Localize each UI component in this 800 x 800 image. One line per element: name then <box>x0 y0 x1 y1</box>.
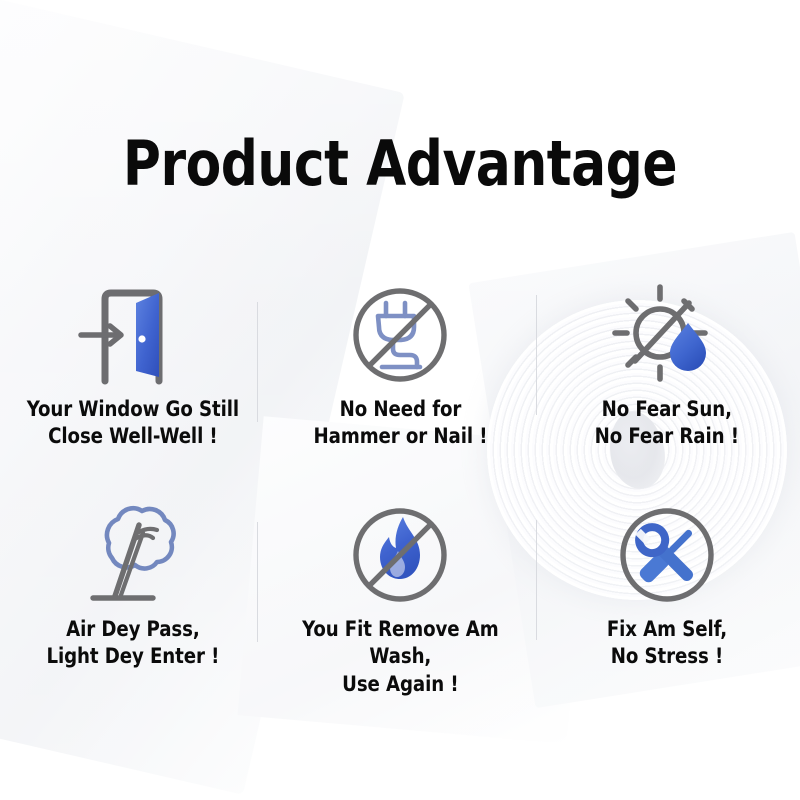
feature-caption: No Fear Sun, No Fear Rain ! <box>595 396 739 451</box>
page-title: Product Advantage <box>28 133 772 195</box>
feature-caption: No Need for Hammer or Nail ! <box>313 396 487 451</box>
no-flame-icon <box>348 496 452 614</box>
no-drill-tool-icon <box>348 276 452 394</box>
product-advantage-poster: Product Advantage <box>0 0 800 800</box>
feature-item-window-closes-well: Your Window Go Still Close Well-Well ! <box>0 276 267 496</box>
feature-grid: Your Window Go Still Close Well-Well ! <box>0 276 800 716</box>
feature-caption: Your Window Go Still Close Well-Well ! <box>27 396 239 451</box>
feature-item-easy-self-install: Fix Am Self, No Stress ! <box>533 496 800 716</box>
feature-item-air-and-light-pass: Air Dey Pass, Light Dey Enter ! <box>0 496 267 716</box>
feature-item-sun-and-rain-proof: No Fear Sun, No Fear Rain ! <box>533 276 800 496</box>
open-door-with-arrow-icon <box>79 276 187 394</box>
feature-caption: You Fit Remove Am Wash, Use Again ! <box>275 616 526 698</box>
no-sun-rain-drop-icon <box>611 276 723 394</box>
feature-caption: Air Dey Pass, Light Dey Enter ! <box>47 616 220 671</box>
wrench-screwdriver-icon <box>615 496 719 614</box>
feature-caption: Fix Am Self, No Stress ! <box>607 616 727 671</box>
tree-breeze-icon <box>75 496 191 614</box>
feature-item-no-hammer-or-nail: No Need for Hammer or Nail ! <box>267 276 534 496</box>
feature-item-washable-reusable: You Fit Remove Am Wash, Use Again ! <box>267 496 534 716</box>
poster-content: Product Advantage <box>0 0 800 800</box>
